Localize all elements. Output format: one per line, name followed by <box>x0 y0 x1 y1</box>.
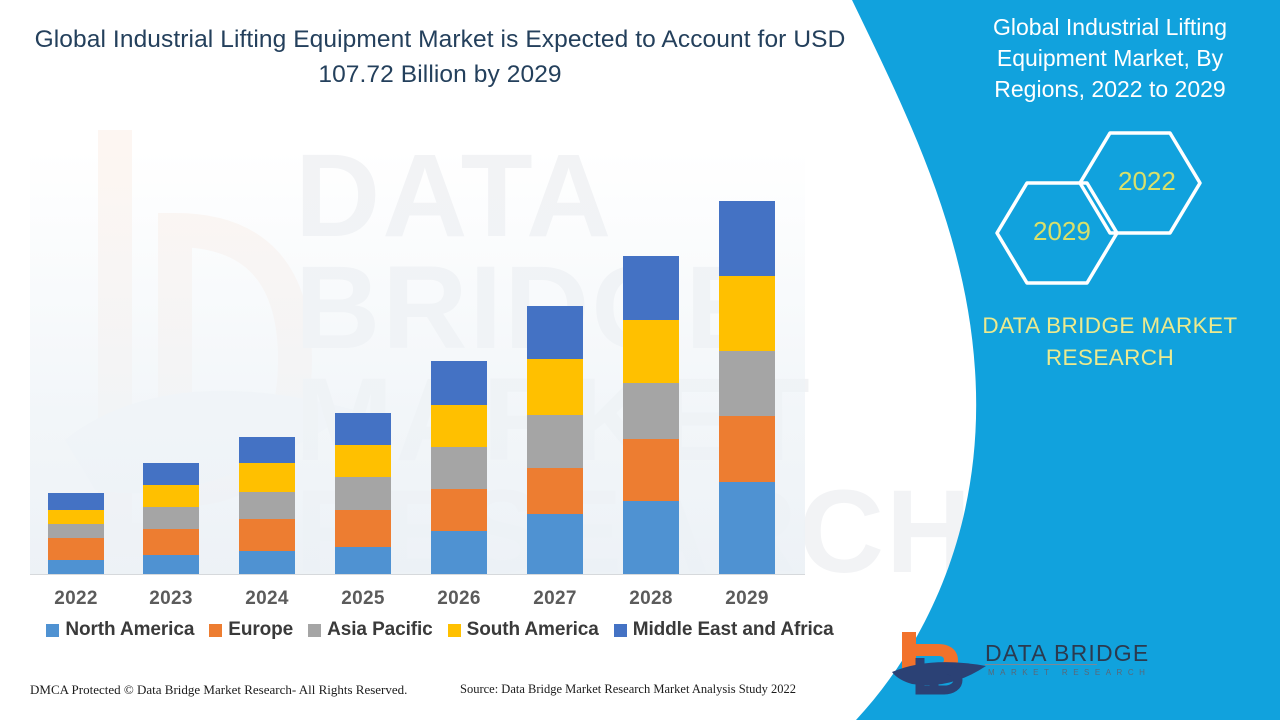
bar-segment-asia-pacific <box>239 492 295 519</box>
x-axis-line <box>30 574 805 575</box>
hex-label-2029: 2029 <box>1033 216 1091 247</box>
bar-2028[interactable] <box>623 256 679 574</box>
bar-segment-north-america <box>48 560 104 574</box>
bar-segment-south-america <box>623 320 679 383</box>
bar-segment-middle-east-and-africa <box>527 306 583 359</box>
hexagon-group: 2022 2029 <box>975 128 1225 288</box>
stacked-bar-chart <box>30 150 805 574</box>
legend-swatch-icon <box>308 624 321 637</box>
bar-segment-asia-pacific <box>48 524 104 538</box>
bar-segment-middle-east-and-africa <box>239 437 295 463</box>
legend-label: South America <box>467 619 599 641</box>
x-label-2027: 2027 <box>510 588 600 610</box>
bar-segment-europe <box>431 489 487 531</box>
hexagon-shapes-icon <box>975 128 1225 288</box>
logo-divider <box>985 664 1097 665</box>
legend-item-europe[interactable]: Europe <box>209 619 293 641</box>
hex-label-2022: 2022 <box>1118 166 1176 197</box>
bar-segment-asia-pacific <box>431 447 487 489</box>
legend-item-south-america[interactable]: South America <box>448 619 599 641</box>
bar-segment-south-america <box>48 510 104 524</box>
bar-segment-north-america <box>623 501 679 574</box>
bar-segment-north-america <box>143 555 199 574</box>
bar-segment-south-america <box>431 405 487 447</box>
x-label-2022: 2022 <box>31 588 121 610</box>
bar-2029[interactable] <box>719 201 775 574</box>
bar-2026[interactable] <box>431 361 487 574</box>
x-axis-labels: 2022 2023 2024 2025 2026 2027 2028 2029 <box>30 588 805 618</box>
legend-item-north-america[interactable]: North America <box>46 619 194 641</box>
bar-segment-middle-east-and-africa <box>623 256 679 320</box>
brand-name: DATA BRIDGE MARKET RESEARCH <box>960 310 1260 374</box>
bar-segment-asia-pacific <box>143 507 199 529</box>
bar-2027[interactable] <box>527 306 583 574</box>
x-label-2024: 2024 <box>222 588 312 610</box>
bar-segment-middle-east-and-africa <box>431 361 487 405</box>
bar-segment-south-america <box>239 463 295 492</box>
panel-title: Global Industrial Lifting Equipment Mark… <box>955 12 1265 105</box>
bar-segment-europe <box>48 538 104 560</box>
bar-segment-north-america <box>239 551 295 574</box>
legend-swatch-icon <box>209 624 222 637</box>
dmca-notice: DMCA Protected © Data Bridge Market Rese… <box>30 682 407 698</box>
bar-segment-south-america <box>719 276 775 351</box>
bar-segment-asia-pacific <box>623 383 679 439</box>
bar-segment-north-america <box>719 482 775 574</box>
chart-legend: North America Europe Asia Pacific South … <box>40 616 840 644</box>
bar-segment-europe <box>143 529 199 555</box>
legend-label: Middle East and Africa <box>633 619 834 641</box>
bar-segment-middle-east-and-africa <box>719 201 775 276</box>
legend-swatch-icon <box>46 624 59 637</box>
legend-label: North America <box>65 619 194 641</box>
bar-segment-north-america <box>335 547 391 574</box>
bar-segment-europe <box>623 439 679 501</box>
x-label-2028: 2028 <box>606 588 696 610</box>
logo-subtext: MARKET RESEARCH <box>988 668 1150 677</box>
x-label-2023: 2023 <box>126 588 216 610</box>
bar-segment-middle-east-and-africa <box>48 493 104 510</box>
legend-swatch-icon <box>614 624 627 637</box>
bar-segment-north-america <box>431 531 487 574</box>
legend-swatch-icon <box>448 624 461 637</box>
footer: DMCA Protected © Data Bridge Market Rese… <box>0 682 860 706</box>
x-label-2025: 2025 <box>318 588 408 610</box>
bar-segment-europe <box>335 510 391 547</box>
bar-segment-europe <box>719 416 775 482</box>
bar-segment-europe <box>527 468 583 514</box>
legend-label: Asia Pacific <box>327 619 432 641</box>
bar-segment-south-america <box>335 445 391 477</box>
bar-segment-north-america <box>527 514 583 574</box>
logo-wordmark: DATA BRIDGE <box>985 640 1149 667</box>
page-title: Global Industrial Lifting Equipment Mark… <box>30 22 850 92</box>
bar-segment-middle-east-and-africa <box>143 463 199 485</box>
bar-2023[interactable] <box>143 463 199 574</box>
legend-item-asia-pacific[interactable]: Asia Pacific <box>308 619 432 641</box>
bar-2022[interactable] <box>48 493 104 574</box>
bar-segment-south-america <box>143 485 199 507</box>
source-note: Source: Data Bridge Market Research Mark… <box>460 682 796 697</box>
bar-segment-asia-pacific <box>719 351 775 416</box>
bar-segment-europe <box>239 519 295 551</box>
legend-item-middle-east-and-africa[interactable]: Middle East and Africa <box>614 619 834 641</box>
bar-segment-middle-east-and-africa <box>335 413 391 445</box>
legend-label: Europe <box>228 619 293 641</box>
x-label-2026: 2026 <box>414 588 504 610</box>
bar-2024[interactable] <box>239 437 295 574</box>
bar-segment-asia-pacific <box>335 477 391 510</box>
x-label-2029: 2029 <box>702 588 792 610</box>
bar-segment-asia-pacific <box>527 415 583 468</box>
bar-segment-south-america <box>527 359 583 415</box>
infographic-page: DATA BRIDGE MARKET RESEARCH Global Indus… <box>0 0 1280 720</box>
bar-2025[interactable] <box>335 413 391 574</box>
